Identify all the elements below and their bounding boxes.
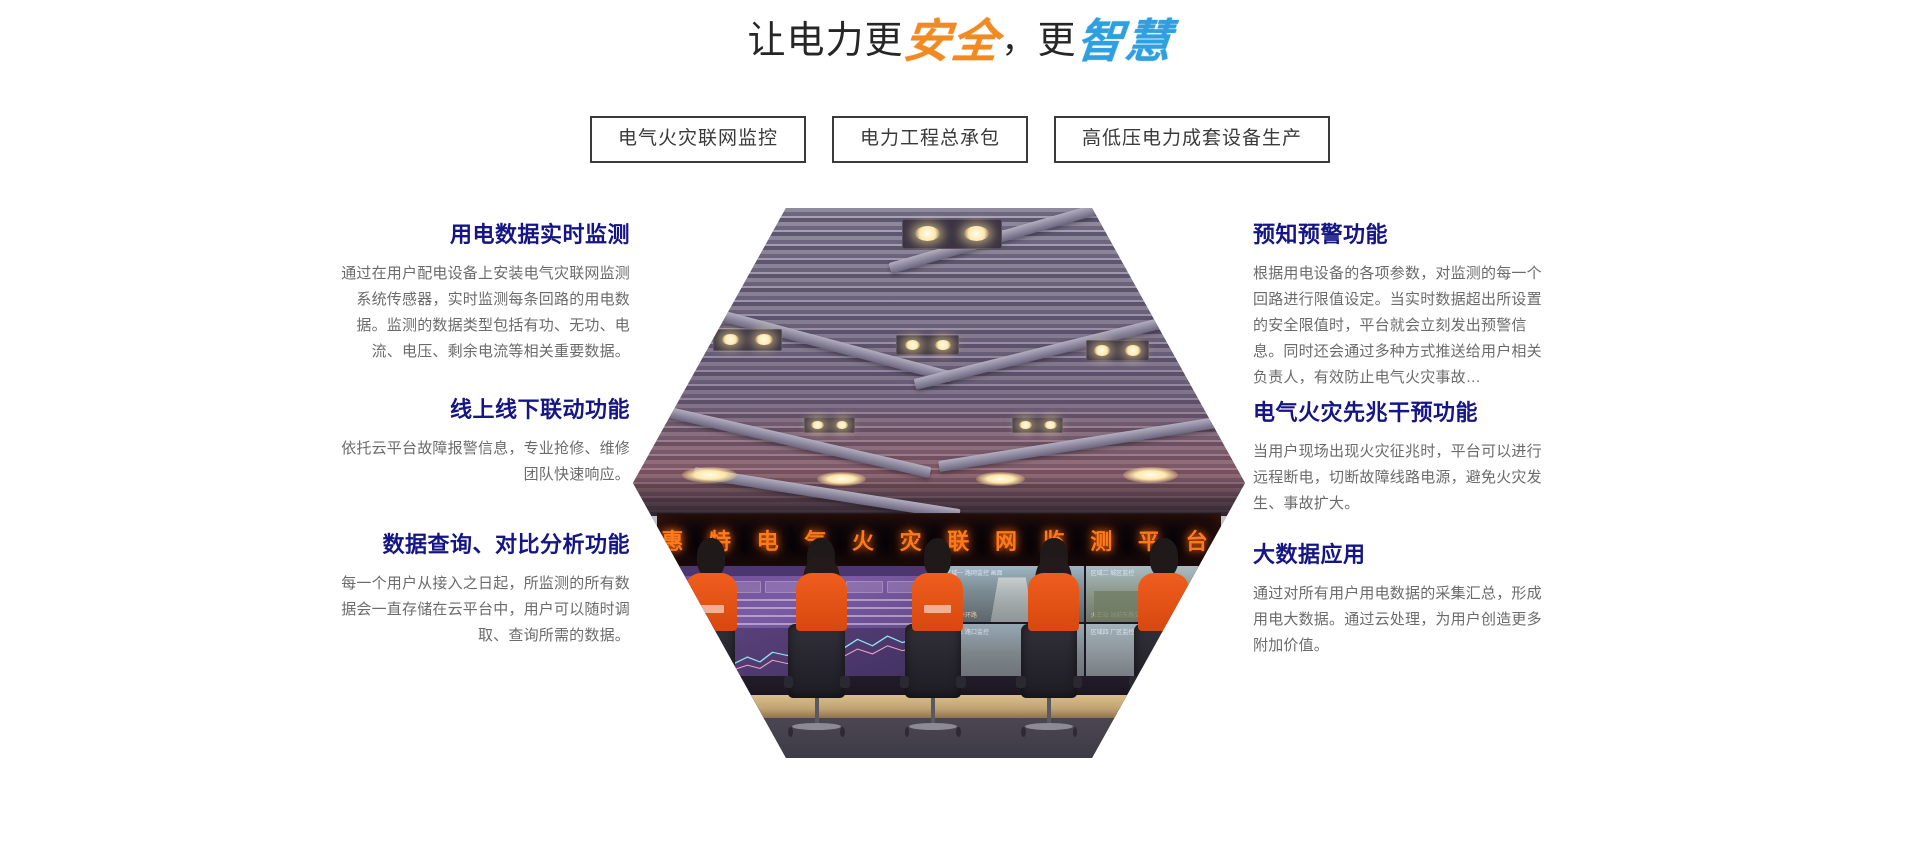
feature-card-fire-precursor-intervention[interactable]: 电气火灾先兆干预功能 当用户现场出现火灾征兆时，平台可以进行远程断电，切断故障线…: [1253, 400, 1553, 517]
chair-base: [792, 723, 840, 730]
operator-person: [908, 538, 966, 632]
tag-button-fire-monitoring[interactable]: 电气火灾联网监控: [590, 116, 806, 163]
dashboard-filter-box: [846, 581, 883, 593]
ceiling-light-fixture: [1086, 340, 1149, 361]
chair-wheel: [1073, 727, 1078, 737]
person-uniform: [1028, 573, 1079, 632]
tag-button-epc-contracting[interactable]: 电力工程总承包: [832, 116, 1028, 163]
feature-title: 电气火灾先兆干预功能: [1253, 400, 1553, 426]
chair-wheel: [840, 727, 845, 737]
hexagon-hero-photo: 惠 特 电 气 火 灾 联 网 监 测 平 台: [633, 208, 1245, 758]
operator-person: [792, 538, 850, 632]
person-uniform: [685, 573, 736, 632]
ceiling-light-fixture: [1012, 417, 1063, 433]
tag-button-switchgear-manufacturing[interactable]: 高低压电力成套设备生产: [1054, 116, 1330, 163]
feature-title: 用电数据实时监测: [330, 222, 630, 248]
feature-card-data-query-analysis[interactable]: 数据查询、对比分析功能 每一个用户从接入之日起，所监测的所有数据会一直存储在云平…: [330, 532, 630, 649]
chair-post: [815, 698, 819, 724]
operator-person: [682, 538, 740, 632]
camera-row-bottom: 区域三 路口监控 区域四 厂区监控: [941, 624, 1230, 681]
uniform-logo: [924, 605, 951, 613]
chair-wheel: [1021, 727, 1026, 737]
chair-post: [1160, 698, 1164, 724]
page-headline: 让电力更安全，更智慧: [0, 18, 1920, 64]
feature-body: 根据用电设备的各项参数，对监测的每一个回路进行限值设定。当实时数据超出所设置的安…: [1253, 261, 1553, 390]
chair-wheel: [788, 727, 793, 737]
chair-base: [682, 723, 730, 730]
operator-person: [1135, 538, 1193, 632]
feature-body: 通过在用户配电设备上安装电气灾联网监测系统传感器，实时监测每条回路的用电数据。监…: [330, 261, 630, 364]
chair-armrest: [1186, 676, 1195, 689]
feature-body: 依托云平台故障报警信息，专业抢修、维修团队快速响应。: [330, 436, 630, 488]
feature-title: 线上线下联动功能: [330, 397, 630, 423]
chair-back: [905, 624, 962, 698]
person-uniform: [1138, 573, 1189, 632]
chair-back: [678, 624, 735, 698]
feature-body: 每一个用户从接入之日起，所监测的所有数据会一直存储在云平台中，用户可以随时调取、…: [330, 571, 630, 648]
chair-armrest: [1073, 676, 1082, 689]
ceiling-light-fixture: [896, 335, 959, 356]
chair-wheel: [730, 727, 735, 737]
chair-armrest: [840, 676, 849, 689]
service-tag-bar: 电气火灾联网监控 电力工程总承包 高低压电力成套设备生产: [0, 116, 1920, 163]
chair-post: [1047, 698, 1051, 724]
ceiling-light-fixture: [902, 219, 1002, 249]
person-uniform: [912, 573, 963, 632]
chair-post: [704, 698, 708, 724]
feature-card-predictive-alarm[interactable]: 预知预警功能 根据用电设备的各项参数，对监测的每一个回路进行限值设定。当实时数据…: [1253, 222, 1553, 390]
chair-armrest: [956, 676, 965, 689]
person-head: [1150, 538, 1178, 577]
feature-title: 预知预警功能: [1253, 222, 1553, 248]
feature-title: 大数据应用: [1253, 542, 1553, 568]
chair-armrest: [730, 676, 739, 689]
control-room-illustration: 惠 特 电 气 火 灾 联 网 监 测 平 台: [633, 208, 1245, 758]
chair-armrest: [1016, 676, 1025, 689]
ceiling-light-glow: [1123, 467, 1178, 484]
chair-wheel: [905, 727, 910, 737]
chair-back: [788, 624, 845, 698]
feature-card-big-data-application[interactable]: 大数据应用 通过对所有用户用电数据的采集汇总，形成用电大数据。通过云处理，为用户…: [1253, 542, 1553, 659]
ceiling-light-glow: [682, 467, 737, 484]
headline-accent-smart: 智慧: [1074, 18, 1175, 64]
uniform-logo: [698, 605, 725, 613]
person-head: [697, 538, 725, 577]
person-uniform: [796, 573, 847, 632]
chair-base: [1138, 723, 1186, 730]
chair-base: [909, 723, 957, 730]
chair-back: [1134, 624, 1191, 698]
chair-wheel: [1186, 727, 1191, 737]
feature-title: 数据查询、对比分析功能: [330, 532, 630, 558]
chair-wheel: [678, 727, 683, 737]
chair-post: [931, 698, 935, 724]
headline-text-part1: 让电力更: [747, 20, 903, 62]
dashboard-sidebar: [648, 576, 674, 681]
camera-label: 区域二 城区监控: [1091, 568, 1135, 577]
chair-armrest: [1129, 676, 1138, 689]
ceiling-light-fixture: [804, 417, 855, 433]
ceiling-light-glow: [817, 472, 866, 486]
ceiling-light-fixture: [713, 329, 782, 351]
chair-armrest: [784, 676, 793, 689]
chair-armrest: [673, 676, 682, 689]
feature-card-online-offline-linkage[interactable]: 线上线下联动功能 依托云平台故障报警信息，专业抢修、维修团队快速响应。: [330, 397, 630, 488]
feature-body: 通过对所有用户用电数据的采集汇总，形成用电大数据。通过云处理，为用户创造更多附加…: [1253, 581, 1553, 658]
headline-comma: ，: [1000, 22, 1038, 60]
chair-wheel: [1134, 727, 1139, 737]
chair-back: [1021, 624, 1078, 698]
headline-text-part2: 更: [1038, 20, 1077, 62]
headline-accent-safety: 安全: [901, 18, 1002, 64]
chair-base: [1025, 723, 1073, 730]
feature-card-realtime-monitoring[interactable]: 用电数据实时监测 通过在用户配电设备上安装电气灾联网监测系统传感器，实时监测每条…: [330, 222, 630, 365]
feature-body: 当用户现场出现火灾征兆时，平台可以进行远程断电，切断故障线路电源，避免火灾发生、…: [1253, 439, 1553, 516]
person-head: [924, 538, 952, 577]
operator-person: [1025, 538, 1083, 632]
chair-armrest: [900, 676, 909, 689]
chair-wheel: [956, 727, 961, 737]
